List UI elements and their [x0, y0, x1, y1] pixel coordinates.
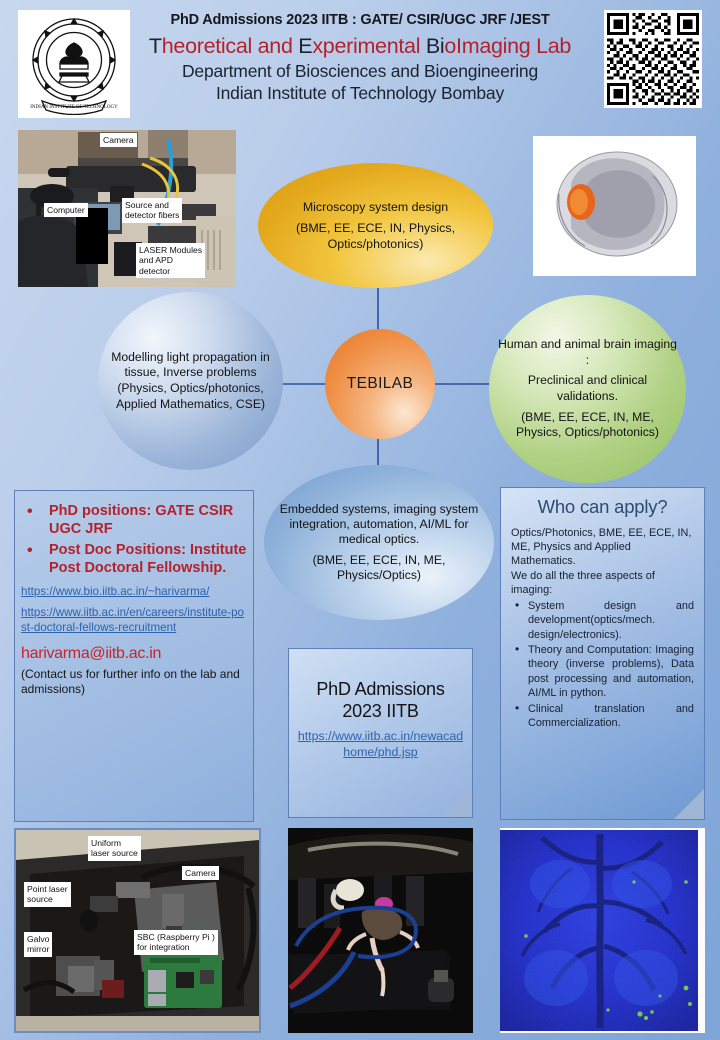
qr-code-icon [607, 13, 699, 105]
qr-code[interactable] [604, 10, 702, 108]
node-embedded-line1: Embedded systems, imaging system integra… [272, 502, 486, 548]
caption-point-laser-source: Point laser source [24, 882, 71, 907]
list-item-postdoc-positions: Post Doc Positions: Institute Post Docto… [21, 542, 247, 577]
page-fold-corner-icon [442, 787, 472, 817]
admissions-link[interactable]: https://www.iitb.ac.in/newacadhome/phd.j… [289, 729, 472, 761]
list-item-phd-positions: PhD positions: GATE CSIR UGC JRF [21, 503, 247, 538]
rodent-imaging-setup-photo [288, 828, 473, 1033]
positions-list: PhD positions: GATE CSIR UGC JRF Post Do… [21, 503, 247, 578]
list-item-clinical-translation: Clinical translation and Commercializati… [511, 702, 694, 731]
svg-text:INDIAN INSTITUTE OF TECHNOLOGY: INDIAN INSTITUTE OF TECHNOLOGY [30, 105, 118, 110]
caption-camera: Camera [100, 133, 137, 147]
caption-sbc-raspberry-pi: SBC (Raspberry Pi ) for integration [134, 930, 218, 955]
node-embedded-line2: (BME, EE, ECE, IN, ME, Physics/Optics) [272, 553, 486, 584]
who-can-apply-panel: Who can apply? Optics/Photonics, BME, EE… [500, 487, 705, 820]
cortical-vasculature-image-svg [500, 828, 705, 1033]
caption-uniform-laser-source: Uniform laser source [88, 836, 141, 861]
caption-galvo-mirror: Galvo mirror [24, 932, 52, 957]
node-brain-imaging: Human and animal brain imaging : Preclin… [489, 295, 686, 483]
contact-note: (Contact us for further info on the lab … [21, 667, 247, 697]
cortical-vasculature-image [500, 828, 705, 1033]
node-tebilab-center: TEBILAB [325, 329, 435, 439]
node-embedded-systems: Embedded systems, imaging system integra… [264, 465, 494, 620]
header-text-block: PhD Admissions 2023 IITB : GATE/ CSIR/UG… [138, 6, 582, 104]
poster-header: INDIAN INSTITUTE OF TECHNOLOGY PhD Admis… [0, 0, 720, 125]
page-fold-corner-icon-right [674, 789, 704, 819]
lab-website-link[interactable]: https://www.bio.iitb.ac.in/~harivarma/ [21, 584, 247, 599]
imaging-bench-photo: Uniform laser source Camera Point laser … [14, 828, 261, 1033]
who-can-apply-list: System design and development(optics/mec… [511, 599, 694, 731]
tebilab-label: TEBILAB [347, 375, 414, 393]
node-modelling-text: Modelling light propagation in tissue, I… [106, 350, 275, 412]
lab-title-t: T [149, 34, 162, 58]
lab-title-bi: Bi [426, 34, 445, 58]
rodent-imaging-setup-image [288, 828, 473, 1033]
ipdf-recruitment-link[interactable]: https://www.iitb.ac.in/en/careers/instit… [21, 605, 247, 635]
lab-title-heoretical: heoretical and [162, 34, 299, 58]
node-brain-line3: (BME, EE, ECE, IN, ME, Physics, Optics/p… [497, 410, 678, 441]
who-can-apply-title: Who can apply? [511, 496, 694, 518]
contact-email[interactable]: harivarma@iitb.ac.in [21, 645, 247, 663]
who-can-apply-body: Optics/Photonics, BME, EE, ECE, IN, ME, … [511, 526, 694, 597]
node-brain-line1: Human and animal brain imaging : [497, 337, 678, 368]
lab-title-oimaging: oImaging Lab [444, 34, 571, 58]
lab-title: Theoretical and Experimental BioImaging … [138, 34, 582, 59]
department-name: Department of Biosciences and Bioenginee… [138, 61, 582, 82]
institute-name: Indian Institute of Technology Bombay [138, 83, 582, 104]
node-modelling-light-propagation: Modelling light propagation in tissue, I… [98, 292, 283, 470]
node-microscopy-line2: (BME, EE, ECE, IN, Physics, Optics/photo… [266, 220, 485, 252]
caption-camera-bench: Camera [182, 866, 219, 880]
admissions-headline: PhD Admissions 2023 IITB : GATE/ CSIR/UG… [138, 6, 582, 28]
node-microscopy-line1: Microscopy system design [266, 199, 485, 215]
admissions-title-line1: PhD Admissions [289, 679, 472, 701]
iitb-logo-icon: INDIAN INSTITUTE OF TECHNOLOGY [22, 13, 126, 115]
lab-title-e: E [298, 34, 312, 58]
phd-admissions-box: PhD Admissions 2023 IITB https://www.iit… [288, 648, 473, 818]
list-item-theory-computation: Theory and Computation: Imaging theory (… [511, 643, 694, 701]
list-item-system-design: System design and development(optics/mec… [511, 599, 694, 642]
node-brain-line2: Preclinical and clinical validations. [497, 373, 678, 404]
poster-root: INDIAN INSTITUTE OF TECHNOLOGY PhD Admis… [0, 0, 720, 1040]
iitb-logo: INDIAN INSTITUTE OF TECHNOLOGY [18, 10, 130, 118]
node-microscopy-system-design: Microscopy system design (BME, EE, ECE, … [258, 163, 493, 288]
admissions-title-line2: 2023 IITB [289, 701, 472, 723]
positions-panel: PhD positions: GATE CSIR UGC JRF Post Do… [14, 490, 254, 822]
lab-title-xperimental: xperimental [312, 34, 426, 58]
